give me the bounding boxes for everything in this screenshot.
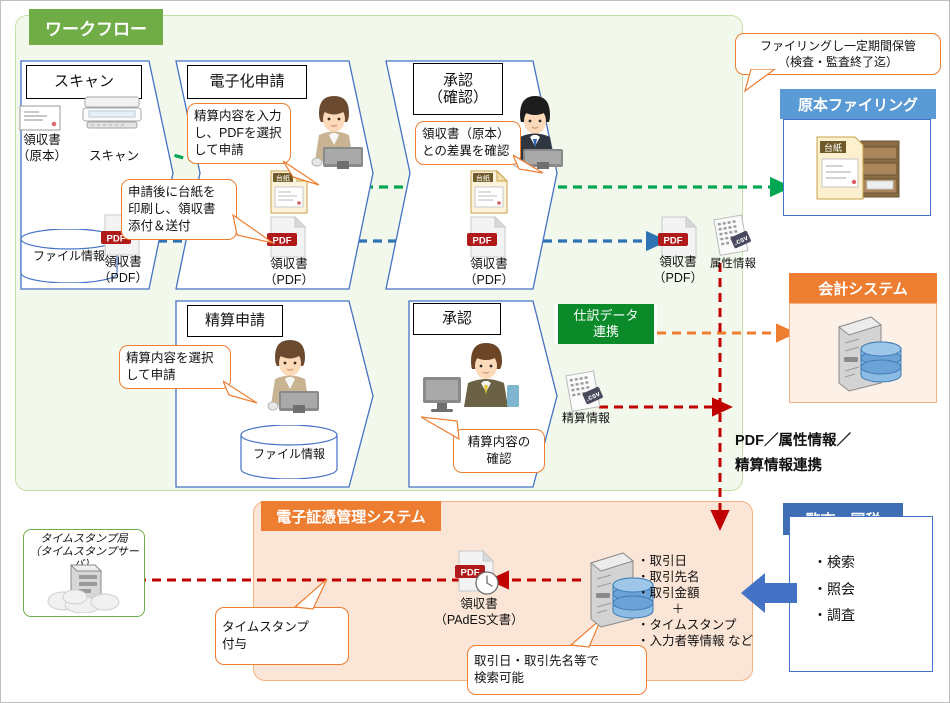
callout-confirm-settlement: 精算内容の 確認 <box>453 429 545 473</box>
stage-label-digitize-request: 電子化申請 <box>187 65 307 99</box>
journal-line2: 連携 <box>593 324 619 340</box>
callout-input-settlement: 精算内容を入力 し、PDFを選択 して申請 <box>187 103 291 164</box>
receipt-pdf-label-stage3: 領収書 （PDF） <box>459 257 519 288</box>
audit-item-inquiry: ・照会 <box>813 576 923 603</box>
receipt-original-icon <box>19 105 61 131</box>
audit-item-search: ・検索 <box>813 549 923 576</box>
file-info-label-settlement: ファイル情報 <box>239 447 339 462</box>
pdf-document-icon-stage3: PDF <box>465 215 509 259</box>
linkage-line1: PDF／属性情報／ <box>735 429 945 454</box>
db-item-plus: ＋ <box>637 601 719 617</box>
receipt-original-label: 領収書 （原本） <box>11 133 73 164</box>
filing-cabinet-icon: 台紙 <box>813 133 905 205</box>
scanner-icon <box>81 93 143 135</box>
pades-pdf-icon: PDF <box>453 549 505 601</box>
callout-timestamp-grant: タイムスタンプ 付与 <box>215 607 349 665</box>
svg-text:PDF: PDF <box>664 235 683 246</box>
callout-tail-select-settlement <box>223 379 265 409</box>
journal-line1: 仕訳データ <box>573 308 638 324</box>
callout-check-diff: 領収書（原本） との差異を確認 <box>415 121 521 165</box>
female-applicant-pc-icon <box>257 337 323 415</box>
callout-tail-confirm-settlement <box>419 413 463 445</box>
settlement-info-label: 精算情報 <box>547 411 625 426</box>
linkage-annotation: PDF／属性情報／ 精算情報連携 <box>735 429 945 478</box>
linkage-line2: 精算情報連携 <box>735 454 945 479</box>
manager-desk-icon <box>421 339 527 415</box>
receipt-pdf-label-stage2: 領収書 （PDF） <box>259 257 319 288</box>
db-item-partner: ・取引先名 <box>637 569 779 585</box>
stage-label-approve-confirm: 承認 （確認） <box>413 63 503 115</box>
stage-label-approve: 承認 <box>413 303 501 335</box>
cloud-server-icon <box>43 561 129 613</box>
mount-sheet-icon-stage3: 台紙 <box>467 169 511 215</box>
svg-text:台紙: 台紙 <box>476 173 490 182</box>
accounting-system-header: 会計システム <box>789 273 937 303</box>
callout-tail-timestamp-grant <box>287 579 333 613</box>
approve-confirm-line1: 承認 <box>443 72 473 89</box>
stage-label-settlement-request: 精算申請 <box>187 305 283 337</box>
receipt-pades-label: 領収書 （PAdES文書） <box>425 597 533 628</box>
svg-text:PDF: PDF <box>461 567 480 578</box>
svg-text:台紙: 台紙 <box>824 142 842 153</box>
edoc-section-tab: 電子証憑管理システム <box>261 501 441 531</box>
callout-print-mount: 申請後に台紙を 印刷し、領収書 添付＆送付 <box>121 179 237 240</box>
approve-confirm-line2: （確認） <box>428 89 488 106</box>
callout-searchable: 取引日・取引先名等で 検索可能 <box>467 645 647 695</box>
attribute-info-label: 属性情報 <box>707 257 759 271</box>
audit-tax-list: ・検索 ・照会 ・調査 <box>813 549 923 629</box>
server-database-icon-accounting <box>829 313 905 395</box>
callout-select-settlement: 精算内容を選択 して申請 <box>119 345 231 389</box>
diagram-canvas: ワークフロー 電子証憑管理システム スキャン 電子化申請 承認 （確認） 精算申… <box>0 0 950 703</box>
scan-action-label: スキャン <box>79 149 149 165</box>
audit-item-investigation: ・調査 <box>813 602 923 629</box>
callout-tail-input-settlement <box>283 159 327 193</box>
callout-tail-print-mount <box>231 213 279 249</box>
db-item-amount: ・取引金額 <box>637 585 779 601</box>
journal-data-linkage-block: 仕訳データ 連携 <box>555 304 657 344</box>
db-item-date: ・取引日 <box>637 553 779 569</box>
receipt-pdf-label-scan: 領収書 （PDF） <box>93 255 153 286</box>
pdf-document-icon-output: PDF <box>656 215 700 259</box>
receipt-pdf-label-output: 領収書 （PDF） <box>649 255 707 286</box>
csv-file-icon-settlement: .csv <box>561 369 607 415</box>
db-item-inputter: ・入力者等情報 など <box>637 633 779 649</box>
db-item-timestamp: ・タイムスタンプ <box>637 617 779 633</box>
csv-file-icon-attribute: .csv <box>709 213 755 259</box>
db-attribute-list: ・取引日 ・取引先名 ・取引金額 ＋ ・タイムスタンプ ・入力者等情報 など <box>637 553 779 649</box>
callout-tail-check-diff <box>513 153 551 179</box>
workflow-section-tab: ワークフロー <box>29 9 163 45</box>
svg-text:PDF: PDF <box>473 235 492 246</box>
callout-tail-filing-retain <box>741 69 781 95</box>
original-filing-header: 原本ファイリング <box>780 89 936 119</box>
